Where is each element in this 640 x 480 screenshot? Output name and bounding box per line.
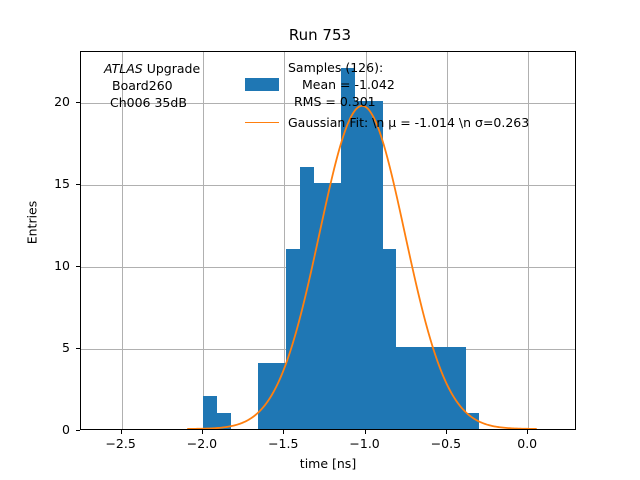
legend-fit-label: Gaussian Fit: \n μ = -1.014 \n σ=0.263 [288,115,529,130]
x-tick-mark [121,430,122,434]
y-tick-mark [76,266,80,267]
legend-label-samples: Samples (126): Mean = -1.042 RMS = 0.301 [288,59,395,110]
legend-entry-fit: Gaussian Fit: \n μ = -1.014 \n σ=0.263 [245,115,529,130]
x-tick-label: −1.0 [335,436,395,451]
figure-canvas: Run 753 −2.5−2.0−1.5−1.0−0.50.005101520 … [0,0,640,480]
legend-mean: Mean = -1.042 [288,76,395,93]
x-tick-mark [446,430,447,434]
y-tick-label: 20 [20,94,70,109]
legend-entry-samples: Samples (126): Mean = -1.042 RMS = 0.301 [245,59,529,110]
legend: Samples (126): Mean = -1.042 RMS = 0.301… [245,59,529,130]
x-tick-mark [202,430,203,434]
legend-swatch-fitline-icon [245,122,279,123]
page-title: Run 753 [0,26,640,44]
annotation-channel: Ch006 35dB [104,94,200,111]
annotation-board: Board260 [104,77,200,94]
legend-samples-count: Samples (126): [288,59,395,76]
x-tick-label: 0.0 [497,436,557,451]
y-tick-label: 0 [20,422,70,437]
y-tick-label: 5 [20,340,70,355]
x-tick-mark [527,430,528,434]
atlas-annotation: ATLAS Upgrade Board260 Ch006 35dB [104,60,200,111]
x-tick-label: −0.5 [416,436,476,451]
x-tick-mark [365,430,366,434]
y-tick-mark [76,430,80,431]
y-tick-mark [76,102,80,103]
y-tick-mark [76,184,80,185]
legend-rms: RMS = 0.301 [288,93,395,110]
x-tick-mark [283,430,284,434]
annotation-atlas-tag: ATLAS [104,61,143,76]
x-tick-label: −2.0 [172,436,232,451]
x-tick-label: −1.5 [253,436,313,451]
y-tick-mark [76,348,80,349]
y-axis-label: Entries [25,163,40,283]
x-tick-label: −2.5 [91,436,151,451]
legend-swatch-histogram-icon [245,78,279,91]
x-axis-label: time [ns] [80,456,576,471]
annotation-upgrade-tag: Upgrade [143,61,200,76]
